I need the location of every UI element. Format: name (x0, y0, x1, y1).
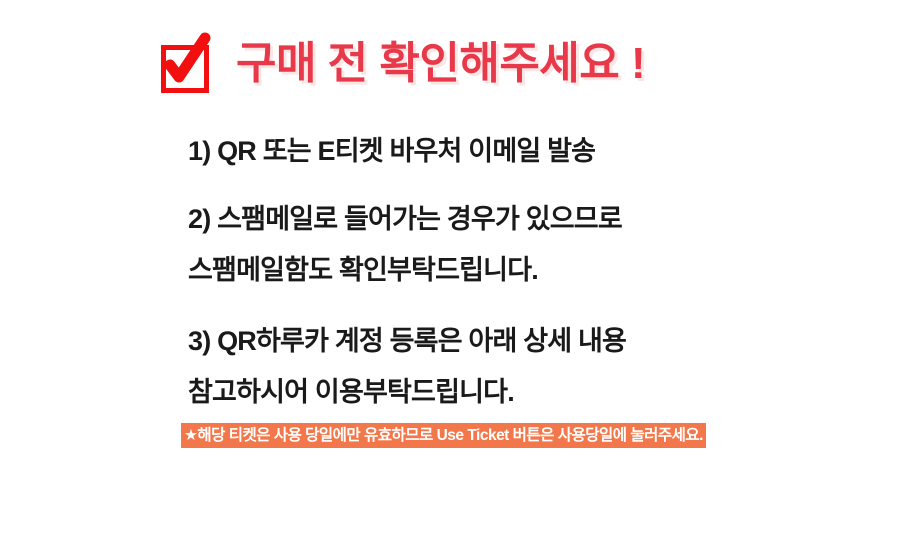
notice-item-1: 1) QR 또는 E티켓 바우처 이메일 발송 (188, 126, 848, 177)
notice-item-2-line-2: 스팸메일함도 확인부탁드립니다. (188, 245, 848, 296)
checkbox-checked-icon (158, 33, 210, 95)
notice-item-3-line-1: 3) QR하루카 계정 등록은 아래 상세 내용 (188, 316, 848, 367)
notice-item-2-line-1: 2) 스팸메일로 들어가는 경우가 있으므로 (188, 194, 848, 245)
notice-header: 구매 전 확인해주세요 ! (158, 30, 645, 98)
notice-item-3-line-2: 참고하시어 이용부탁드립니다. (188, 367, 848, 418)
notice-list: 1) QR 또는 E티켓 바우처 이메일 발송 2) 스팸메일로 들어가는 경우… (188, 126, 848, 418)
notice-item-3: 3) QR하루카 계정 등록은 아래 상세 내용 참고하시어 이용부탁드립니다. (188, 316, 848, 418)
page-title: 구매 전 확인해주세요 ! (236, 42, 645, 86)
notice-item-1-line-1: 1) QR 또는 E티켓 바우처 이메일 발송 (188, 126, 848, 177)
use-ticket-warning-text: ★해당 티켓은 사용 당일에만 유효하므로 Use Ticket 버튼은 사용당… (184, 428, 703, 444)
use-ticket-warning-banner: ★해당 티켓은 사용 당일에만 유효하므로 Use Ticket 버튼은 사용당… (181, 423, 706, 448)
purchase-notice-card: 구매 전 확인해주세요 ! 1) QR 또는 E티켓 바우처 이메일 발송 2)… (0, 0, 900, 550)
notice-item-2: 2) 스팸메일로 들어가는 경우가 있으므로 스팸메일함도 확인부탁드립니다. (188, 194, 848, 296)
